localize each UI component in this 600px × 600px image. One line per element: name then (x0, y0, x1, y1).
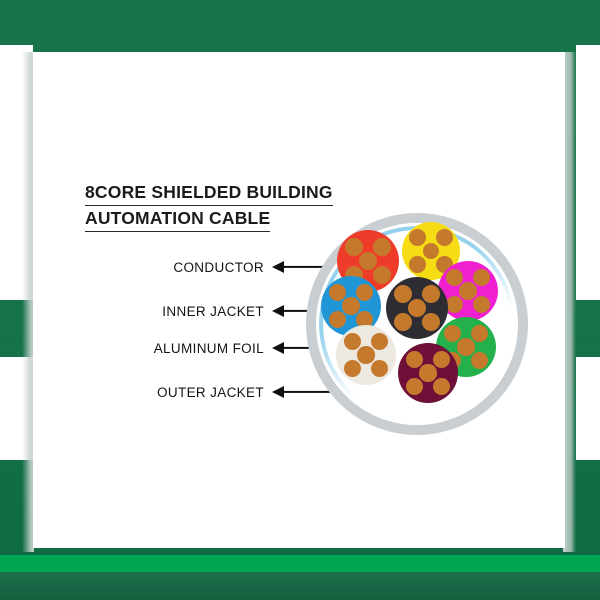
arrowhead-aluminum-foil (272, 342, 284, 354)
arrowhead-conductor (272, 261, 284, 273)
conductor-strand (329, 284, 346, 301)
conductor-strand (356, 284, 373, 301)
right-gutter-upper (576, 45, 600, 300)
conductor-strand (471, 352, 488, 369)
conductor-strand (423, 243, 440, 260)
conductor-strand (409, 229, 426, 246)
right-stripe-3 (576, 343, 600, 357)
callout-label-outer-jacket: OUTER JACKET (157, 385, 264, 400)
conductor-strand (408, 299, 426, 317)
conductor-strand (344, 333, 361, 350)
conductor-strand (406, 378, 423, 395)
right-stripe-2 (576, 324, 600, 338)
page-title-line-2: AUTOMATION CABLE (85, 206, 270, 232)
conductor-strand (371, 333, 388, 350)
conductor-strand (394, 285, 412, 303)
conductor-strand (373, 238, 391, 256)
conductor-strand (419, 364, 436, 381)
conductor-strand (473, 269, 490, 286)
page-title-line-1: 8CORE SHIELDED BUILDING (85, 180, 333, 206)
cable-diagram-page: 8CORE SHIELDED BUILDING AUTOMATION CABLE… (0, 0, 600, 600)
conductor-strand (359, 252, 377, 270)
arrowhead-inner-jacket (272, 305, 284, 317)
conductor-strand (433, 351, 450, 368)
conductor-strand (329, 311, 346, 328)
conductor-strand (371, 360, 388, 377)
green-footer-band (0, 572, 600, 600)
conductor-strand (436, 229, 453, 246)
conductor-strand (459, 282, 476, 299)
right-stripe-1 (576, 305, 600, 319)
conductor-strand (345, 238, 363, 256)
arrowhead-outer-jacket (272, 386, 284, 398)
conductor-strand (471, 325, 488, 342)
conductor-strand (422, 285, 440, 303)
conductor-strand (444, 325, 461, 342)
callout-label-aluminum-foil: ALUMINUM FOIL (154, 341, 264, 356)
conductor-strand (342, 297, 359, 314)
callout-aluminum-foil: ALUMINUM FOIL (80, 339, 264, 357)
right-gutter-lower (576, 352, 600, 460)
callout-conductor: CONDUCTOR (80, 258, 264, 276)
callout-inner-jacket: INNER JACKET (80, 302, 264, 320)
conductor-strand (446, 296, 463, 313)
conductor-strand (446, 269, 463, 286)
conductor-strand (422, 313, 440, 331)
callout-label-conductor: CONDUCTOR (173, 260, 264, 275)
core-black (386, 277, 448, 339)
conductor-strand (373, 266, 391, 284)
conductor-strand (394, 313, 412, 331)
conductor-strand (433, 378, 450, 395)
conductor-strand (406, 351, 423, 368)
core-maroon (398, 343, 458, 403)
conductor-strand (344, 360, 361, 377)
conductor-strand (357, 346, 374, 363)
conductor-strand (409, 256, 426, 273)
conductor-strand (457, 338, 474, 355)
core-white (336, 325, 396, 385)
callout-label-inner-jacket: INNER JACKET (162, 304, 264, 319)
cable-cross-section (306, 213, 528, 435)
conductor-strand (473, 296, 490, 313)
callout-outer-jacket: OUTER JACKET (80, 383, 264, 401)
